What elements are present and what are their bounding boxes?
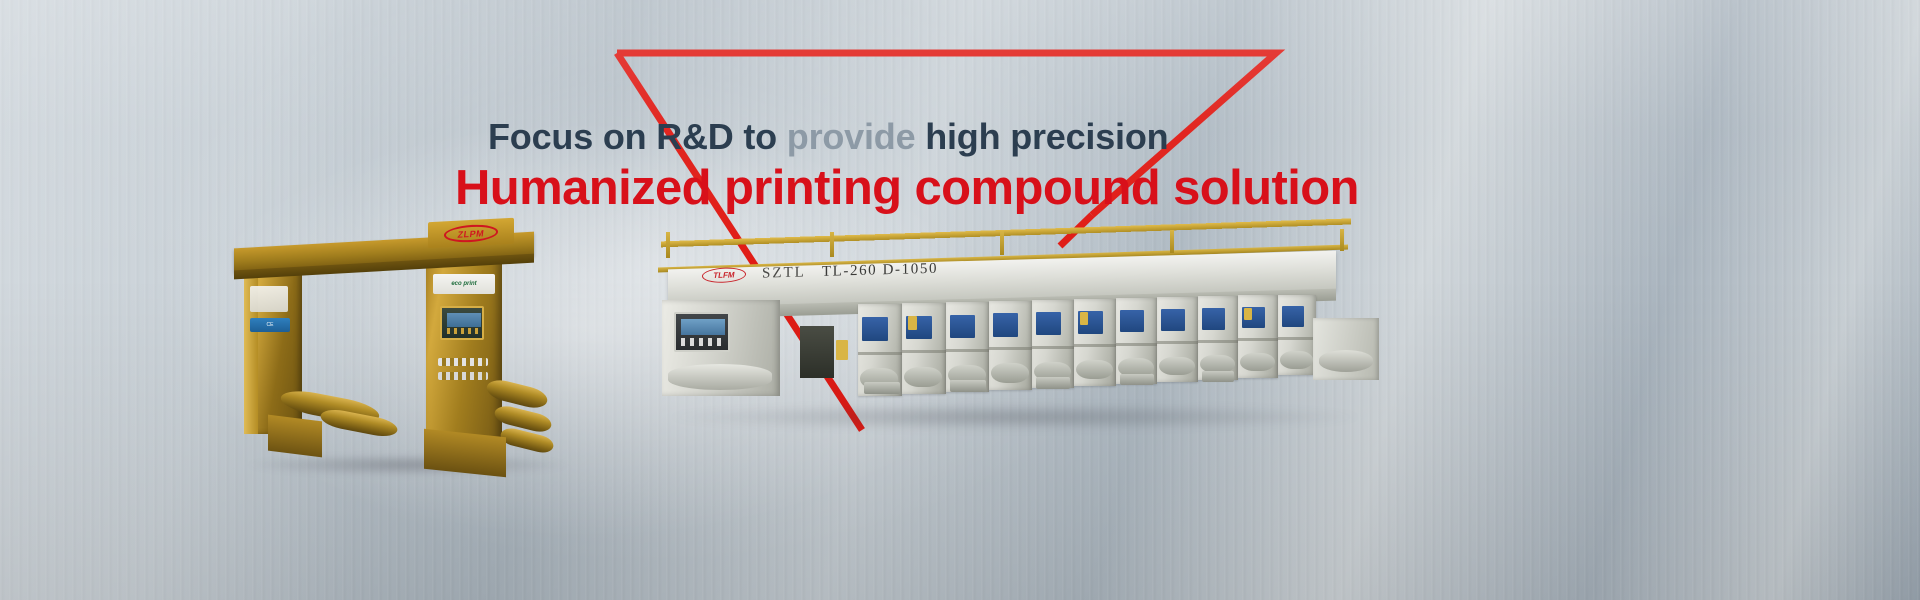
machine-left-panel-screen <box>447 313 481 327</box>
machine-right-ink-pan-2 <box>950 380 986 392</box>
machine-right-gantry-top <box>661 218 1351 247</box>
machine-left-button-row-2 <box>438 372 488 380</box>
machine-right-yellow-box-3 <box>1080 312 1088 325</box>
print-unit-stripe <box>946 349 989 352</box>
headline-line1-segment-3: high precision <box>925 116 1168 157</box>
machine-right-yellow-box-2 <box>908 316 917 330</box>
machine-right-model: TL-260 D-1050 <box>822 261 938 281</box>
print-unit-stripe <box>858 352 902 355</box>
headline-line-1: Focus on R&D to provide high precision <box>455 118 1275 156</box>
headline-line1-segment-1: Focus on R&D to <box>488 116 787 157</box>
machine-right-drive-cabinet <box>800 326 834 378</box>
print-unit-cabinet <box>1161 309 1185 331</box>
print-unit-stripe <box>1074 344 1116 347</box>
machine-right-ink-pan-1 <box>864 382 900 394</box>
machine-right-rewind-roll <box>1319 350 1373 372</box>
machine-right-yellow-box-1 <box>836 340 848 360</box>
machine-left-logo-oval: ZLPM <box>443 223 499 243</box>
print-unit-drum <box>1159 357 1195 376</box>
machine-left-base-right <box>424 429 506 478</box>
machine-right-print-unit-4 <box>989 301 1032 390</box>
machine-right-shadow <box>670 404 1360 430</box>
hero-banner: CE eco print ZLPM <box>0 0 1920 600</box>
machine-left-button-row-1 <box>438 358 488 366</box>
headline-line1-segment-2: provide <box>787 116 925 157</box>
print-unit-cabinet <box>1282 306 1304 327</box>
machine-right-gantry-post-5 <box>1340 229 1344 251</box>
machine-right-gantry-post-2 <box>830 232 834 257</box>
print-unit-stripe <box>1198 340 1238 343</box>
machine-right-print-unit-5 <box>1032 300 1074 388</box>
machine-left-logo-plate: ZLPM <box>428 218 514 249</box>
machine-left-badge-sticker: CE <box>250 318 290 332</box>
machine-right-print-unit-8 <box>1157 297 1198 382</box>
rotogravure-printing-press-line: TLFM SZTL TL-260 D-1050 <box>640 222 1385 482</box>
machine-right-ink-pan-4 <box>1120 374 1154 385</box>
print-unit-cabinet <box>993 313 1018 336</box>
print-unit-drum <box>1240 353 1275 371</box>
machine-right-unwind-station <box>662 300 780 396</box>
print-unit-stripe <box>1278 337 1316 340</box>
print-unit-cabinet <box>1120 310 1144 332</box>
machine-right-panel-screen <box>681 319 725 335</box>
machine-right-panel-buttons <box>681 338 725 346</box>
machine-left-base-left <box>268 415 322 458</box>
machine-right-control-panel <box>674 312 730 352</box>
print-unit-drum <box>904 367 943 387</box>
machine-right-print-unit-7 <box>1116 298 1157 384</box>
machine-right-gantry-post-1 <box>666 232 670 258</box>
machine-left-shadow <box>248 454 568 476</box>
machine-right-print-unit-3 <box>946 302 989 392</box>
print-unit-drum <box>991 363 1029 383</box>
print-unit-drum <box>1076 360 1113 379</box>
print-unit-stripe <box>1116 343 1157 346</box>
print-unit-stripe <box>1157 341 1198 344</box>
print-unit-cabinet <box>950 315 975 338</box>
flexographic-printing-press: CE eco print ZLPM <box>228 218 580 466</box>
headline-line-2: Humanized printing compound solution <box>455 163 1275 214</box>
machine-left-panel-knobs <box>447 328 481 334</box>
print-unit-stripe <box>989 347 1032 350</box>
machine-right-print-unit-11 <box>1278 295 1316 375</box>
machine-left-control-panel <box>440 306 484 340</box>
print-unit-cabinet <box>862 317 888 341</box>
print-unit-stripe <box>1032 346 1074 349</box>
machine-right-logo-oval: TLFM <box>701 267 748 283</box>
machine-right-rewind-station <box>1313 318 1379 380</box>
machine-right-ink-pan-5 <box>1202 371 1234 382</box>
machine-right-print-unit-9 <box>1198 296 1238 380</box>
machine-left-spec-sticker <box>250 286 288 312</box>
print-unit-cabinet <box>1202 308 1225 330</box>
print-unit-drum <box>1280 351 1313 369</box>
print-unit-cabinet <box>1036 312 1060 335</box>
print-unit-stripe <box>902 350 946 353</box>
headline-copy: Focus on R&D to provide high precision H… <box>455 118 1275 214</box>
machine-right-gantry-post-4 <box>1170 230 1174 253</box>
print-unit-stripe <box>1238 338 1278 341</box>
machine-right-yellow-box-4 <box>1244 308 1252 320</box>
machine-right-ink-pan-3 <box>1036 377 1070 389</box>
machine-left-eco-sticker: eco print <box>433 274 495 294</box>
machine-right-gantry-post-3 <box>1000 231 1004 255</box>
machine-right-brand: SZTL <box>762 264 806 282</box>
machine-right-unwind-roll <box>668 364 772 390</box>
